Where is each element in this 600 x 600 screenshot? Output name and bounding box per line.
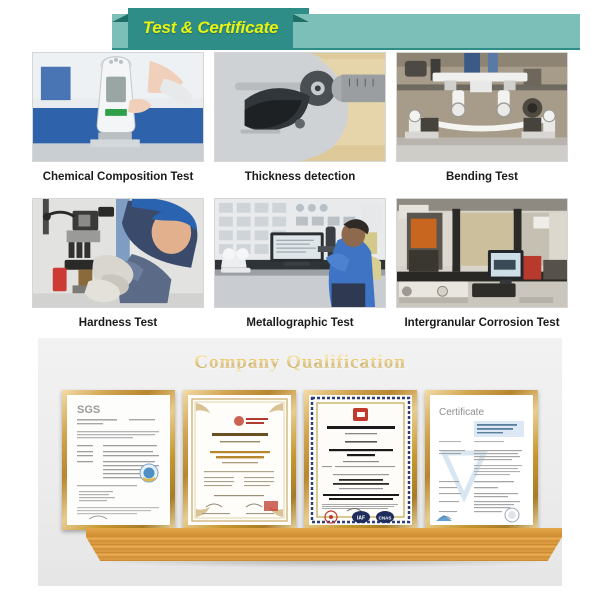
spectrometer-photo [32, 52, 204, 162]
page-root: Test & Certificate [0, 0, 600, 600]
section-banner: Test & Certificate [0, 0, 600, 48]
test-caption: Chemical Composition Test [32, 162, 204, 192]
test-item-thickness-detection[interactable]: Thickness detection [214, 52, 386, 192]
test-row: Chemical Composition Test [0, 52, 600, 192]
test-item-metallographic[interactable]: Metallographic Test [214, 198, 386, 338]
qualification-title: Company Qualification [38, 352, 562, 374]
certificate-frame-quality-management[interactable]: IAF CNAS [304, 390, 417, 530]
corrosion-lab-photo [396, 198, 568, 308]
page-title: Test & Certificate [128, 8, 293, 48]
test-item-hardness[interactable]: Hardness Test [32, 198, 204, 338]
shelf-shadow [94, 561, 554, 568]
sgs-certificate: SGS [67, 395, 170, 525]
test-item-intergranular-corrosion[interactable]: Intergranular Corrosion Test [396, 198, 568, 338]
test-caption: Bending Test [396, 162, 568, 192]
section-company-qualification: Company Qualification SGS [38, 338, 562, 586]
quality-assurance-certificate: Certificate [430, 395, 533, 525]
micrometer-photo [214, 52, 386, 162]
test-caption: Metallographic Test [214, 308, 386, 338]
test-caption: Hardness Test [32, 308, 204, 338]
svg-text:IAF: IAF [357, 516, 365, 522]
test-item-bending[interactable]: Bending Test [396, 52, 568, 192]
test-caption: Thickness detection [214, 162, 386, 192]
svg-text:Certificate: Certificate [439, 407, 484, 418]
test-caption: Intergranular Corrosion Test [396, 308, 568, 338]
hardness-tester-photo [32, 198, 204, 308]
banner-tab-extension [293, 8, 309, 14]
bending-machine-photo [396, 52, 568, 162]
svg-text:CNAS: CNAS [379, 516, 392, 521]
svg-text:SGS: SGS [77, 404, 100, 416]
supplier-assessment-certificate [188, 395, 291, 525]
certificate-gallery: SGS [62, 390, 538, 530]
microscope-lab-photo [214, 198, 386, 308]
shelf-front-face [86, 537, 562, 561]
certificate-frame-quality-assurance[interactable]: Certificate [425, 390, 538, 530]
quality-management-system-certificate: IAF CNAS [309, 395, 412, 525]
test-row: Hardness Test [0, 198, 600, 338]
test-item-chemical-composition[interactable]: Chemical Composition Test [32, 52, 204, 192]
certificate-frame-supplier-assessment[interactable] [183, 390, 296, 530]
wooden-shelf [86, 528, 562, 568]
certificate-frame-sgs[interactable]: SGS [62, 390, 175, 530]
test-photo-grid: Chemical Composition Test [0, 52, 600, 343]
banner-underline [112, 48, 580, 50]
shelf-top-surface [86, 528, 562, 537]
